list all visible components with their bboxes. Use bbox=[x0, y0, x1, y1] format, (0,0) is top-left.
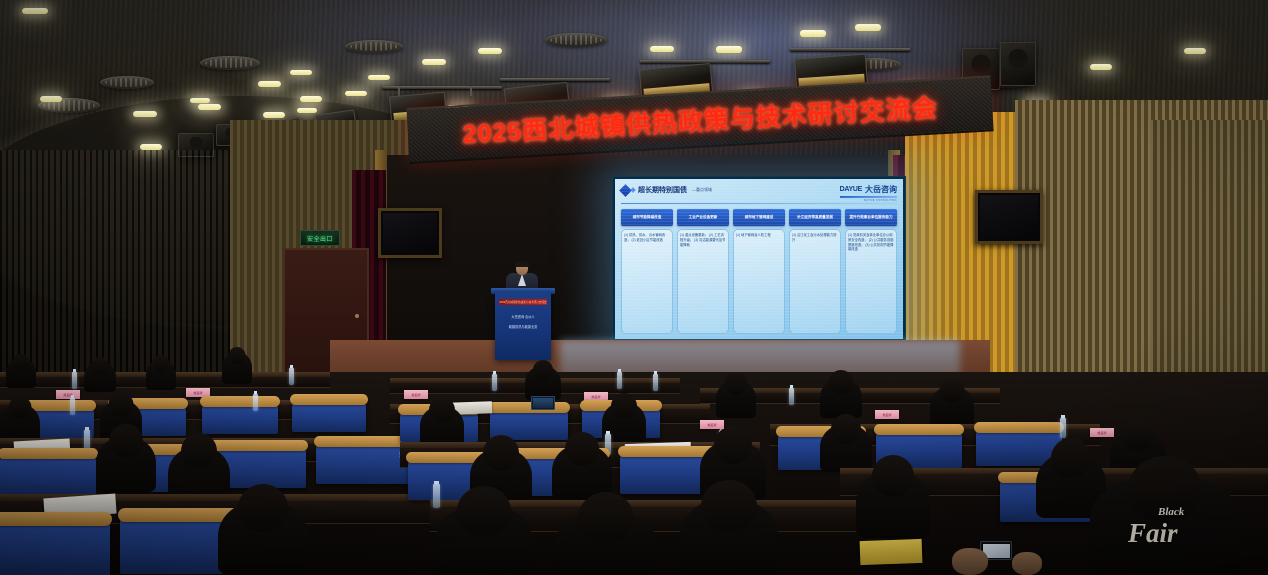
slide-category-box: 城市地下管网建设 bbox=[733, 209, 785, 226]
slide-category-box: 工业产业设备更新 bbox=[677, 209, 729, 226]
slide-category-box: 长江经济带高质量发展 bbox=[789, 209, 841, 226]
slide-detail-text: (1) 沿江化工及污水处理能力提升 bbox=[792, 233, 838, 243]
audience-person bbox=[6, 358, 36, 388]
spotlight-arm bbox=[470, 86, 472, 96]
logo-chinese-text: 大岳咨询 bbox=[865, 184, 897, 195]
ceiling-light bbox=[190, 98, 210, 103]
audience-person bbox=[930, 386, 974, 426]
audience-person bbox=[420, 406, 464, 446]
audience-person bbox=[146, 360, 176, 390]
diamond-icon bbox=[619, 184, 632, 197]
ceiling-light bbox=[855, 24, 881, 31]
ceiling-light bbox=[1184, 48, 1206, 54]
ceiling-vent bbox=[200, 56, 260, 70]
water-bottle bbox=[1060, 418, 1066, 438]
audience-person bbox=[820, 378, 862, 418]
water-bottle bbox=[70, 398, 75, 415]
wall-monitor-right bbox=[975, 190, 1043, 244]
ceiling-vent bbox=[345, 40, 403, 53]
slide-category-label: 提升行政事业单位服务能力 bbox=[849, 215, 892, 219]
exit-sign-label: 安全出口 bbox=[307, 234, 333, 243]
conference-hall-photo: 安全出口 2025西北城镇供热政策与技术研讨交流会 超长期特别国债 —重点领域 … bbox=[0, 0, 1268, 575]
podium-banner-strip: 2025西北城镇供热政策与技术研讨交流会 bbox=[499, 299, 547, 305]
hand bbox=[952, 548, 988, 575]
water-bottle bbox=[253, 394, 258, 411]
slide-category-row: 城市节能降碳改造 工业产业设备更新 城市地下管网建设 长江经济带高质量发展 提升… bbox=[621, 209, 897, 226]
ceiling-light bbox=[716, 46, 742, 53]
audience-person bbox=[856, 470, 930, 538]
slide-category-box: 城市节能降碳改造 bbox=[621, 209, 673, 226]
lighting-truss bbox=[790, 48, 910, 51]
ceiling-vent bbox=[545, 33, 607, 47]
hand bbox=[1012, 552, 1042, 575]
audience-person bbox=[556, 510, 656, 575]
jacket-text-main: Fair bbox=[1128, 518, 1178, 549]
slide-detail-card: (1) 党政机关及事业单位办公用房安全改造； (2) 公共服务设施更新改造； (… bbox=[845, 229, 897, 334]
water-bottle bbox=[289, 368, 294, 385]
audience-person bbox=[222, 352, 252, 384]
ceiling-light bbox=[290, 70, 312, 75]
presentation-slide: 超长期特别国债 —重点领域 DAYUE 大岳咨询 DAYUE CONSULTIN… bbox=[615, 179, 903, 339]
ceiling-light bbox=[800, 30, 826, 37]
slide-divider bbox=[621, 203, 897, 204]
slide-detail-card: (1) 地下管网及人防工程 bbox=[733, 229, 785, 334]
slide-detail-text: (1) 供热、供水、污水管网改造； (2) 老旧小区节能改造 bbox=[624, 233, 670, 243]
audience-person bbox=[820, 424, 872, 472]
slide-title: 超长期特别国债 bbox=[638, 185, 687, 195]
water-bottle bbox=[789, 388, 794, 405]
podium-line-1: 大岳咨询 合伙人 bbox=[499, 314, 547, 319]
slide-detail-card: (1) 沿江化工及污水处理能力提升 bbox=[789, 229, 841, 334]
slide-header: 超长期特别国债 —重点领域 bbox=[621, 185, 712, 195]
ceiling-light bbox=[368, 75, 390, 80]
slide-category-label: 城市地下管网建设 bbox=[745, 215, 774, 219]
audience-person bbox=[218, 500, 308, 575]
notepad bbox=[860, 539, 923, 565]
ceiling-light bbox=[478, 48, 502, 54]
ceiling-light bbox=[345, 91, 367, 96]
slide-detail-text: (1) 地下管网及人防工程 bbox=[736, 233, 782, 238]
slide-detail-card: (1) 重点设备更新； (2) 工艺流程升级； (3) 清洁能源替代及节能降耗 bbox=[677, 229, 729, 334]
name-card: 姓名牌 bbox=[404, 390, 428, 399]
podium-line-2: 城镇供热与能源业务 bbox=[499, 324, 547, 329]
lighting-truss bbox=[382, 86, 502, 89]
door-knob bbox=[355, 314, 359, 318]
logo-english-text: DAYUE bbox=[840, 186, 862, 193]
logo-underline bbox=[840, 196, 897, 198]
ceiling-light bbox=[22, 8, 48, 14]
audience-chair: 5 bbox=[316, 440, 410, 484]
audience-person bbox=[436, 504, 532, 575]
audience-person bbox=[84, 362, 116, 392]
exit-sign: 安全出口 bbox=[300, 230, 340, 246]
audience-chair bbox=[202, 400, 278, 434]
audience-chair bbox=[292, 398, 366, 432]
hanging-speaker bbox=[1000, 42, 1036, 86]
ceiling-light bbox=[258, 81, 281, 87]
name-card: 姓名牌 bbox=[875, 410, 899, 419]
slide-category-label: 工业产业设备更新 bbox=[689, 215, 718, 219]
lighting-truss bbox=[500, 78, 610, 81]
slide-detail-card: (1) 供热、供水、污水管网改造； (2) 老旧小区节能改造 bbox=[621, 229, 673, 334]
slide-subtitle: —重点领域 bbox=[692, 187, 712, 193]
ceiling-light bbox=[133, 111, 157, 117]
slide-category-label: 城市节能降碳改造 bbox=[633, 215, 662, 219]
audience-person bbox=[525, 366, 561, 400]
water-bottle bbox=[492, 374, 497, 391]
ceiling-light bbox=[40, 96, 62, 102]
audience-person bbox=[716, 380, 756, 418]
speaker-hair bbox=[515, 261, 529, 267]
water-bottle bbox=[653, 374, 658, 391]
diamond-small-icon bbox=[630, 187, 636, 193]
ceiling-light bbox=[650, 46, 674, 52]
ceiling-light bbox=[198, 104, 221, 110]
water-bottle bbox=[617, 372, 622, 389]
ceiling-light bbox=[300, 96, 322, 102]
water-bottle bbox=[72, 372, 77, 389]
podium-banner-text: 2025西北城镇供热政策与技术研讨交流会 bbox=[499, 300, 546, 304]
projection-screen: 超长期特别国债 —重点领域 DAYUE 大岳咨询 DAYUE CONSULTIN… bbox=[612, 176, 906, 342]
ceiling-light bbox=[422, 59, 446, 65]
name-card: 姓名牌 bbox=[700, 420, 724, 429]
slide-category-label: 长江经济带高质量发展 bbox=[797, 215, 833, 219]
jacket-text-top: Black bbox=[1158, 506, 1184, 518]
ceiling-vent bbox=[100, 76, 154, 89]
laptop bbox=[531, 396, 555, 410]
name-card: 姓名牌 bbox=[1090, 428, 1114, 437]
audience-person bbox=[680, 498, 778, 575]
slide-detail-row: (1) 供热、供水、污水管网改造； (2) 老旧小区节能改造 (1) 重点设备更… bbox=[621, 229, 897, 334]
name-card: 姓名牌 bbox=[56, 390, 80, 399]
wall-monitor-left bbox=[378, 208, 442, 258]
audience-person bbox=[96, 436, 156, 492]
logo-tagline: DAYUE CONSULTING bbox=[840, 198, 897, 202]
company-logo: DAYUE 大岳咨询 DAYUE CONSULTING bbox=[840, 184, 897, 202]
ceiling-light bbox=[263, 112, 285, 118]
audience-chair bbox=[0, 452, 96, 496]
ceiling-light bbox=[297, 108, 317, 113]
ceiling-light bbox=[1090, 64, 1112, 70]
slide-detail-text: (1) 党政机关及事业单位办公用房安全改造； (2) 公共服务设施更新改造； (… bbox=[848, 233, 894, 252]
slide-detail-text: (1) 重点设备更新； (2) 工艺流程升级； (3) 清洁能源替代及节能降耗 bbox=[680, 233, 726, 247]
audience-chair bbox=[0, 516, 110, 575]
water-bottle bbox=[433, 484, 440, 508]
slide-category-box: 提升行政事业单位服务能力 bbox=[845, 209, 897, 226]
